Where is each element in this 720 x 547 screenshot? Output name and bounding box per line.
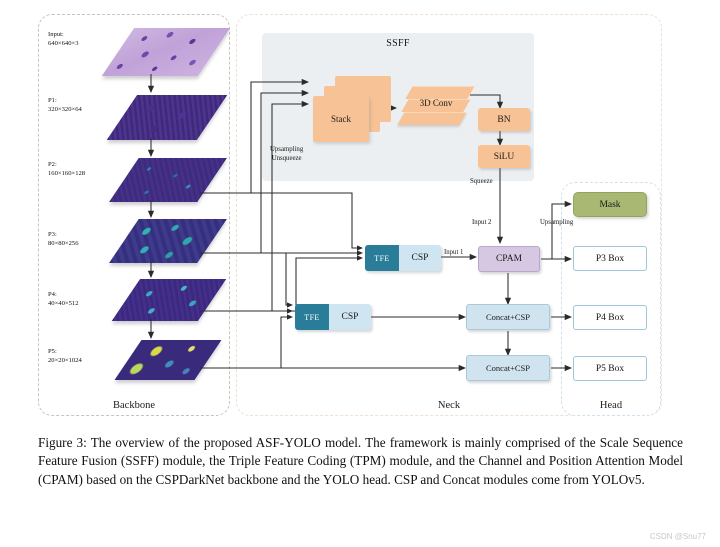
layer-label-p5-dims: 20×20×1024 [48,357,82,365]
input2-label: Input 2 [472,219,491,228]
layer-label-p2-dims: 160×160×128 [48,170,85,178]
layer-label-p3-name: P3: [48,231,57,239]
cpam-node: CPAM [478,246,540,272]
tfe-node-p4: TFE [295,304,329,330]
silu-node: SiLU [478,145,530,168]
layer-label-p5-name: P5: [48,348,57,356]
csp-node-p4: CSP [329,304,371,330]
p5-box-node: P5 Box [573,356,647,381]
feature-map-p2 [124,158,212,202]
conv3d-label: 3D Conv [399,98,473,108]
p3-box-node: P3 Box [573,246,647,271]
mask-node: Mask [573,192,647,217]
bn-node: BN [478,108,530,131]
tfe-node-p3: TFE [365,245,399,271]
layer-label-p1-dims: 320×320×64 [48,106,82,114]
ssff-title: SSFF [262,38,534,49]
concat-csp-node-p4: Concat+CSP [466,304,550,330]
figure-diagram: Backbone Neck Head SSFF Input: 640×640×3… [0,0,720,430]
concat-csp-node-p5: Concat+CSP [466,355,550,381]
stack-node: Stack [313,76,391,142]
upsampling-unsqueeze-label: Upsampling Unsqueeze [270,146,303,163]
figure-caption: Figure 3: The overview of the proposed A… [38,434,683,489]
feature-map-p3 [124,219,212,263]
upsampling-label: Upsampling [540,219,573,228]
layer-label-p2-name: P2: [48,161,57,169]
stack-label: Stack [313,96,369,142]
p4-box-node: P4 Box [573,305,647,330]
csp-node-p3: CSP [399,245,441,271]
layer-label-p4-name: P4: [48,291,57,299]
backbone-label: Backbone [39,400,229,411]
layer-label-p4-dims: 40×40×512 [48,300,79,308]
feature-map-p4 [126,279,212,321]
feature-map-p5 [128,340,208,380]
conv3d-node: 3D Conv [399,86,473,138]
input1-label: Input 1 [444,249,463,258]
layer-label-p3-dims: 80×80×256 [48,240,79,248]
watermark: CSDN @Snu77 [650,532,706,541]
layer-label-input-name: Input: [48,31,64,39]
feature-map-p1 [122,95,212,140]
head-label: Head [562,400,660,411]
feature-map-input [118,28,214,76]
layer-label-p1-name: P1: [48,97,57,105]
squeeze-label: Squeeze [470,178,493,187]
layer-label-input-dims: 640×640×3 [48,40,79,48]
